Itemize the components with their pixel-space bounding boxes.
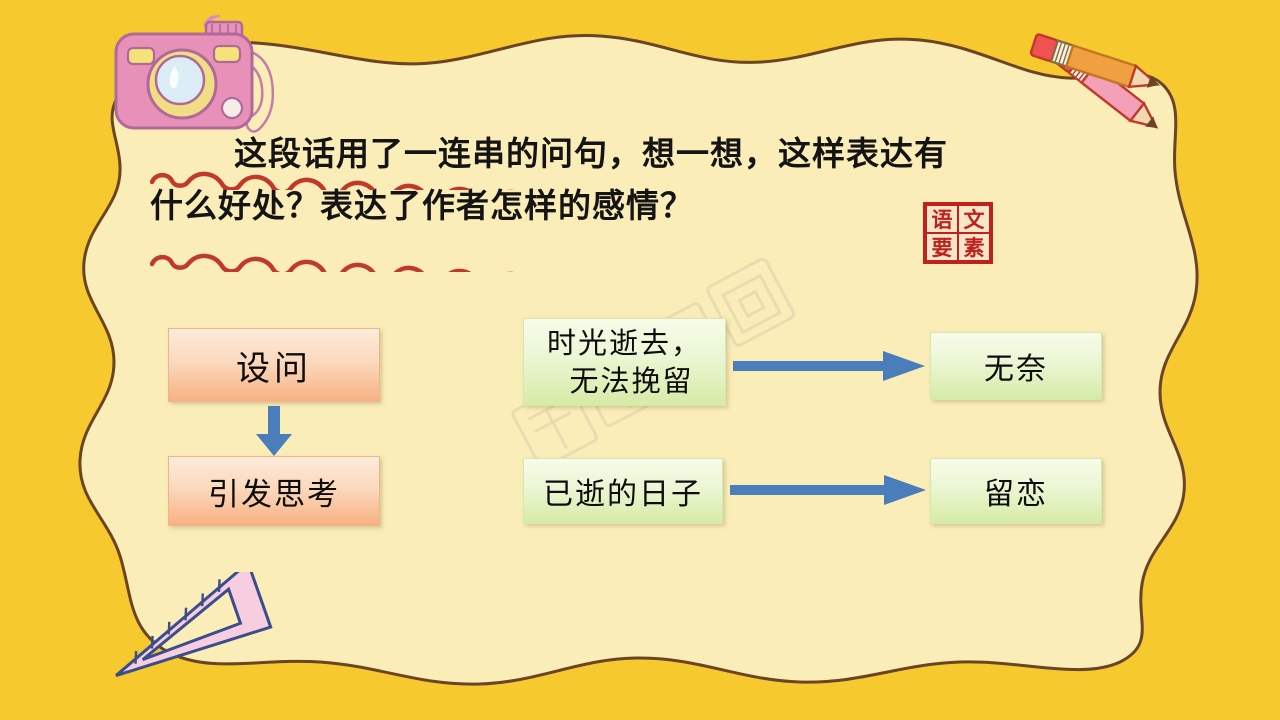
seal-cell-3: 要	[926, 233, 958, 261]
box-yinfasikao[interactable]: 引发思考	[168, 456, 380, 526]
seal-stamp: 语 文 要 素	[923, 202, 993, 264]
slide-canvas: 这段话用了一连串的问句，想一想，这样表达有 什么好处？表达了作者怎样的感情？ 语…	[0, 0, 1280, 720]
seal-cell-4: 素	[958, 233, 990, 261]
box-yishi-de-rizi[interactable]: 已逝的日子	[523, 458, 723, 524]
box-shiguang-line2: 无法挽留	[547, 362, 702, 400]
box-wunai[interactable]: 无奈	[930, 332, 1102, 400]
camera-icon	[96, 8, 286, 148]
box-shiguang-text: 时光逝去，无法挽留	[547, 324, 702, 400]
triangle-ruler-icon	[92, 572, 312, 682]
pencils-icon	[1022, 16, 1198, 146]
box-liulian[interactable]: 留恋	[930, 458, 1102, 524]
seal-cell-2: 文	[958, 205, 990, 233]
down-arrow-icon	[248, 404, 300, 460]
box-shiguang-shiqu[interactable]: 时光逝去，无法挽留	[523, 318, 726, 406]
right-arrow-icon-2	[730, 472, 930, 508]
box-shiguang-line1: 时光逝去，	[547, 326, 702, 360]
box-shewen[interactable]: 设问	[168, 328, 380, 402]
seal-cell-1: 语	[926, 205, 958, 233]
right-arrow-icon-1	[733, 348, 929, 384]
wave-underline-1	[150, 168, 1090, 190]
